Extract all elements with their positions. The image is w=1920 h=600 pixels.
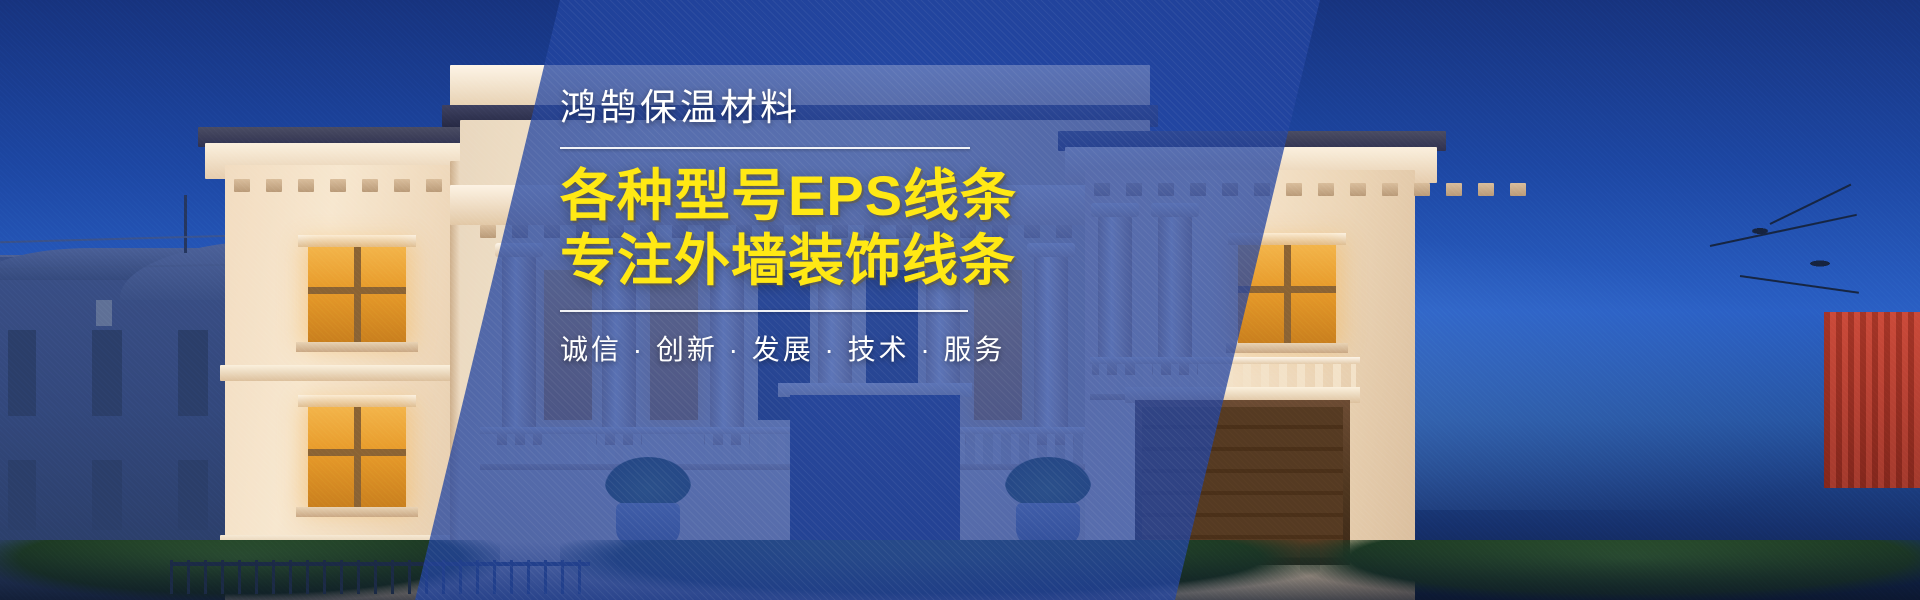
red-container [1824,312,1920,488]
far-window [8,460,36,530]
lit-window [308,247,406,342]
banner-copy: 鸿鹄保温材料 各种型号EPS线条 专注外墙装饰线条 诚信 · 创新 · 发展 ·… [560,88,1240,368]
window-sill [296,507,418,517]
tagline: 诚信 · 创新 · 发展 · 技术 · 服务 [560,328,1240,368]
far-window [8,330,36,416]
divider-top [560,147,970,149]
window-sill [296,342,418,352]
divider-bottom [560,310,968,312]
window-sill [1226,343,1348,353]
headline-line-2: 专注外墙装饰线条 [560,228,1240,294]
lit-window [308,407,406,507]
tree-branch [1700,205,1900,335]
headline: 各种型号EPS线条 专注外墙装饰线条 [560,163,1240,294]
far-window [92,330,122,416]
brand-name: 鸿鹄保温材料 [560,88,1240,129]
headline-line-1: 各种型号EPS线条 [560,163,1240,229]
hero-banner: 鸿鹄保温材料 各种型号EPS线条 专注外墙装饰线条 诚信 · 创新 · 发展 ·… [0,0,1920,600]
window-head [298,395,416,407]
window-head [298,235,416,247]
far-window [96,300,112,326]
far-window [92,460,122,530]
